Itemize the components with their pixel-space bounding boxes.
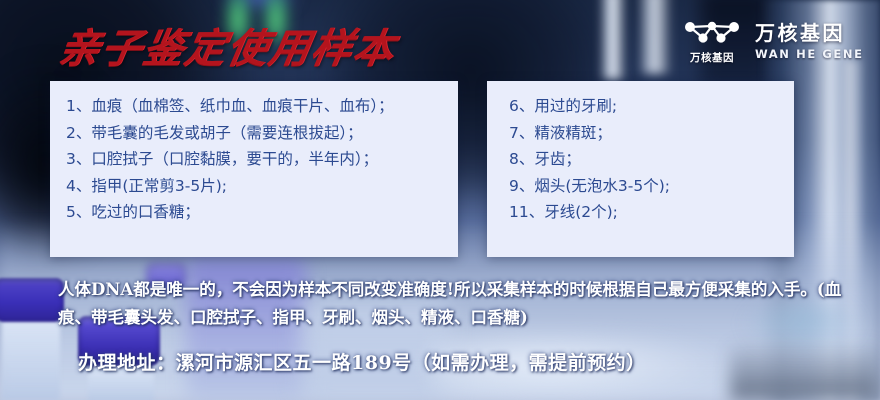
sample-list-left: 1、血痕（血棉签、纸巾血、血痕干片、血布）； 2、带毛囊的毛发或胡子（需要连根拔… bbox=[50, 81, 458, 225]
logo-name-en: WAN HE GENE bbox=[755, 47, 864, 61]
vial-body-1 bbox=[2, 318, 60, 400]
sample-list-right: 6、用过的牙刷; 7、精液精斑； 8、牙齿； 9、烟头(无泡水3-5个); 11… bbox=[487, 81, 794, 225]
poster-root: 亲子鉴定使用样本 bbox=[0, 0, 880, 400]
molecule-icon bbox=[683, 18, 741, 48]
logo-mark: 万核基因 bbox=[683, 18, 741, 65]
list-item: 1、血痕（血棉签、纸巾血、血痕干片、血布）； bbox=[66, 95, 442, 119]
list-item: 8、牙齿； bbox=[509, 148, 778, 172]
list-item: 6、用过的牙刷; bbox=[509, 95, 778, 119]
note-text: 人体DNA都是唯一的，不会因为样本不同改变准确度!所以采集样本的时候根据自己最方… bbox=[58, 276, 848, 333]
sample-list-panel-left: 1、血痕（血棉签、纸巾血、血痕干片、血布）； 2、带毛囊的毛发或胡子（需要连根拔… bbox=[50, 81, 458, 257]
background-pale-column-2 bbox=[638, 0, 672, 74]
vial-cap-1 bbox=[0, 278, 64, 322]
list-item: 5、吃过的口香糖； bbox=[66, 201, 442, 225]
list-item: 2、带毛囊的毛发或胡子（需要连根拔起）； bbox=[66, 122, 442, 146]
list-item: 11、牙线(2个); bbox=[509, 201, 778, 225]
list-item: 4、指甲(正常剪3-5片); bbox=[66, 175, 442, 199]
background-dark-bottom-right bbox=[730, 340, 880, 400]
page-title: 亲子鉴定使用样本 bbox=[55, 16, 401, 74]
list-item: 3、口腔拭子（口腔黏膜，要干的，半年内）； bbox=[66, 148, 442, 172]
list-item: 7、精液精斑； bbox=[509, 122, 778, 146]
brand-logo: 万核基因 万核基因 WAN HE GENE bbox=[683, 18, 864, 65]
list-item: 9、烟头(无泡水3-5个); bbox=[509, 175, 778, 199]
logo-wordmark: 万核基因 WAN HE GENE bbox=[755, 23, 864, 61]
logo-mark-label: 万核基因 bbox=[690, 50, 734, 65]
background-pale-column-1 bbox=[600, 0, 626, 80]
logo-name-cn: 万核基因 bbox=[755, 23, 864, 44]
sample-list-panel-right: 6、用过的牙刷; 7、精液精斑； 8、牙齿； 9、烟头(无泡水3-5个); 11… bbox=[487, 81, 794, 257]
address-text: 办理地址：漯河市源汇区五一路189号（如需办理，需提前预约） bbox=[78, 348, 646, 375]
